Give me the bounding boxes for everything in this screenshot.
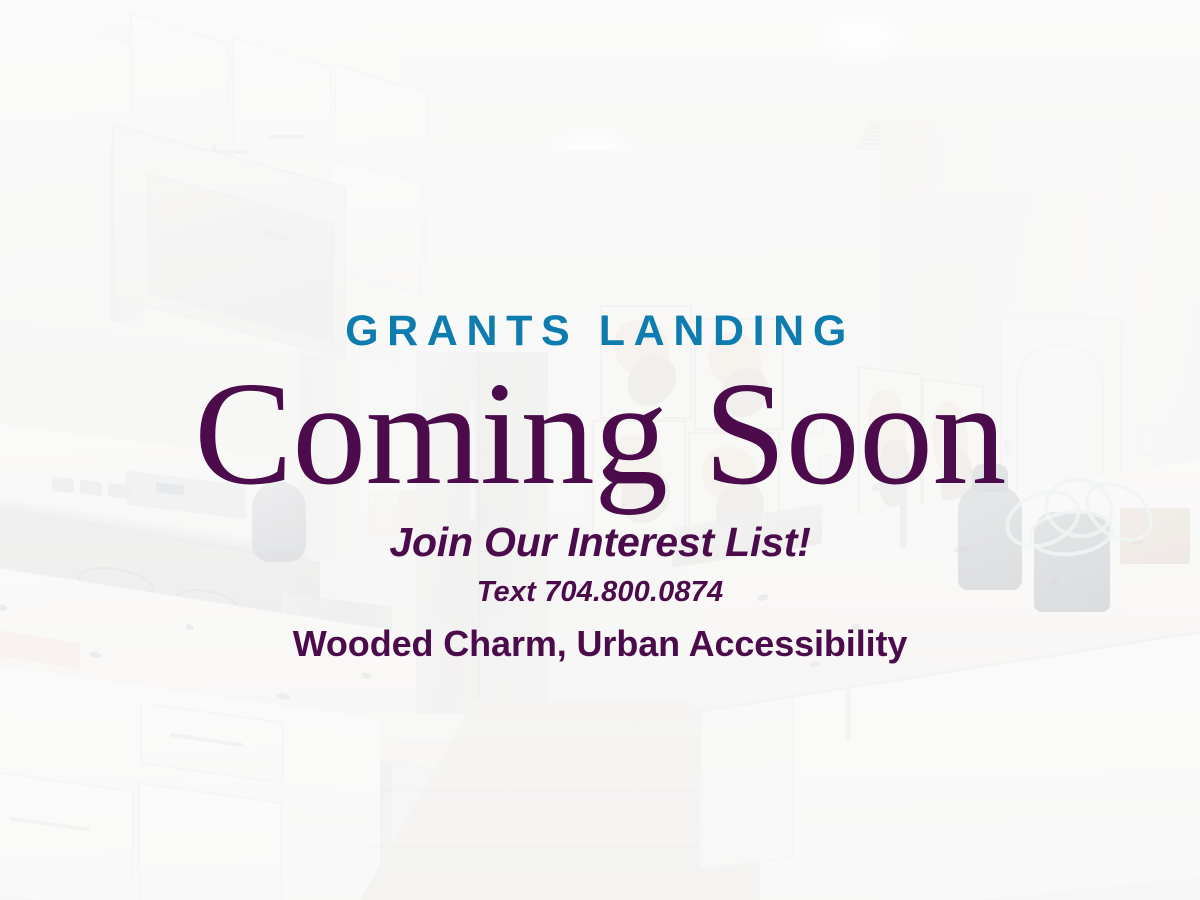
text-phone-number[interactable]: Text 704.800.0874 <box>477 577 723 609</box>
page-title: Coming Soon <box>194 359 1006 510</box>
coming-soon-promo-card: GRANTS LANDING Coming Soon Join Our Inte… <box>0 0 1200 900</box>
community-tagline: Wooded Charm, Urban Accessibility <box>293 624 908 664</box>
promo-text-overlay: GRANTS LANDING Coming Soon Join Our Inte… <box>0 0 1200 900</box>
interest-list-cta: Join Our Interest List! <box>389 520 810 565</box>
community-name: GRANTS LANDING <box>345 310 855 353</box>
